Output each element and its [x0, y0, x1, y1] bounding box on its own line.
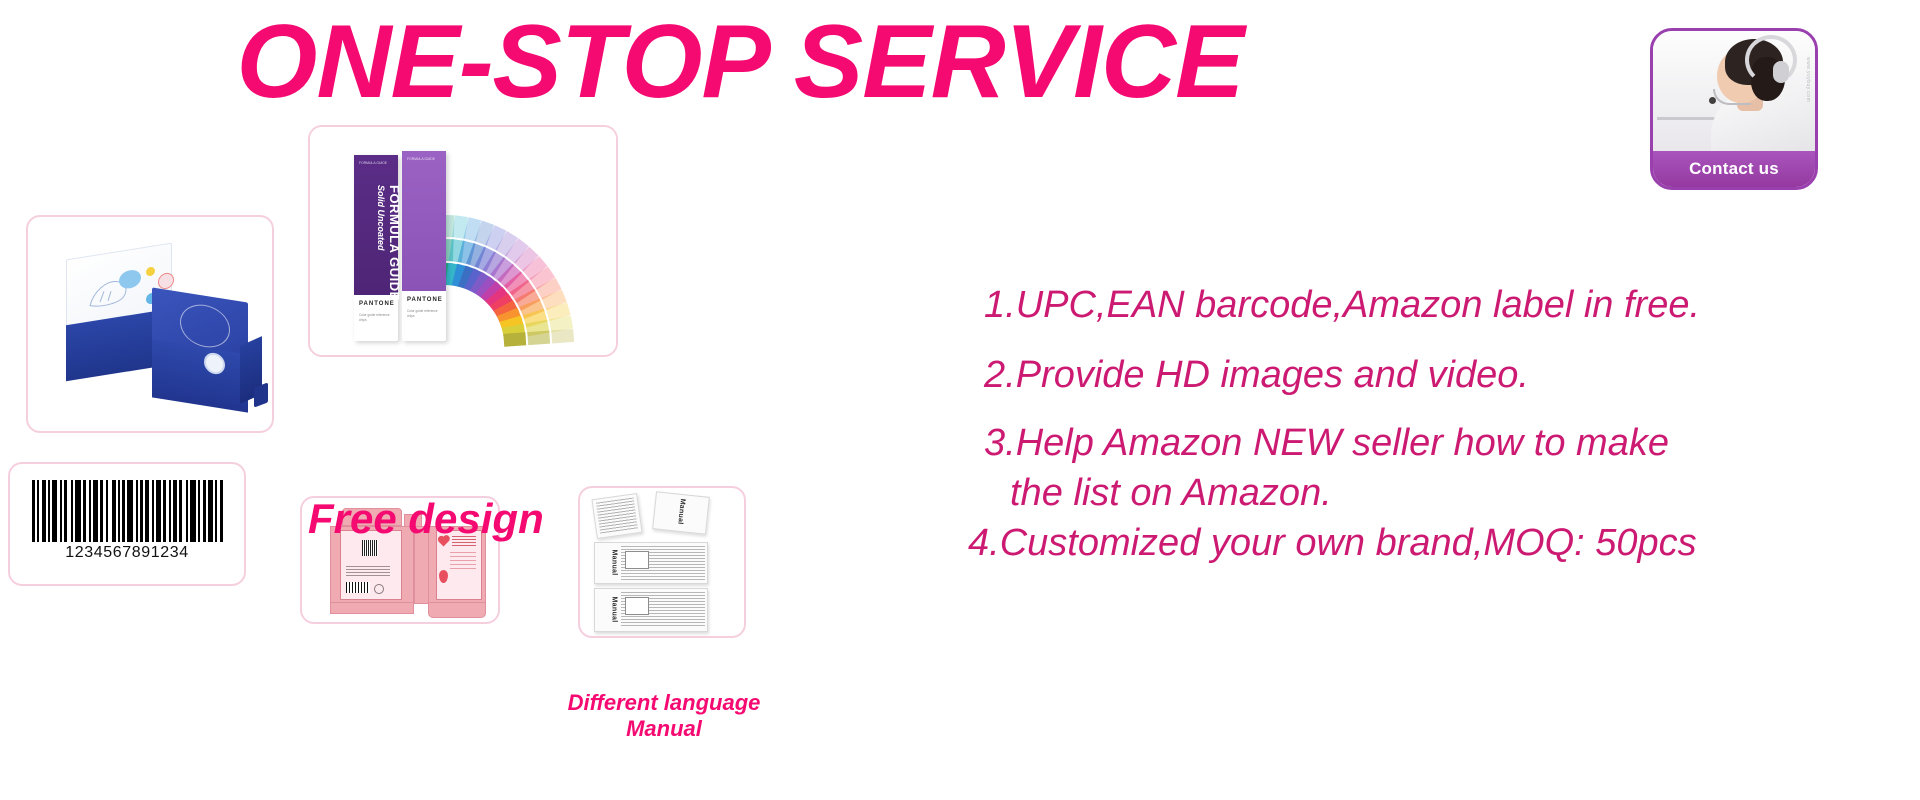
manual-text-lines	[596, 498, 638, 535]
manual-caption: Different language Manual	[566, 690, 762, 742]
guide-tiny-text: FORMULA GUIDE	[407, 157, 441, 162]
manual-caption-line1: Different language	[566, 690, 762, 716]
fan-swatches-icon	[438, 149, 618, 349]
manual-leaflet-label: Manual	[610, 597, 617, 623]
manual-leaflet-open-2: Manual	[594, 588, 708, 632]
headset-mic-icon	[1713, 89, 1751, 105]
headset-band-icon	[1745, 35, 1797, 85]
infographic-banner: ONE-STOP SERVICE www.yoybuy.com Contact …	[0, 0, 1920, 800]
manual-cover-label: Manual	[676, 498, 686, 525]
blue-box-pull-tab	[254, 382, 268, 407]
manual-page-dense	[591, 493, 642, 539]
photo-watermark: www.yoybuy.com	[1805, 57, 1811, 102]
pantone-color-fan	[438, 149, 618, 349]
pantone-logo-uncoated: PANTONE	[407, 297, 443, 303]
manual-caption-line2: Manual	[566, 716, 762, 742]
barcode-number: 1234567891234	[10, 544, 244, 562]
guide-title-uncoated: FORMULA GUIDE Solid Uncoated	[358, 181, 402, 321]
manual-card: Manual Manual Manual	[578, 486, 746, 638]
pantone-guide-uncoated: FORMULA GUIDE FORMULA GUIDE Solid Uncoat…	[402, 151, 446, 341]
guide-title-coated: FORMULA GUIDE Solid Coated	[310, 185, 354, 325]
guide-blurb: Color guide reference chips	[407, 309, 441, 320]
headset-mic-tip-icon	[1709, 97, 1716, 104]
contact-us-badge[interactable]: www.yoybuy.com Contact us	[1650, 28, 1818, 190]
manual-cover-booklet: Manual	[652, 491, 710, 534]
dieline-bottom-flap	[428, 602, 486, 618]
contact-us-bar[interactable]: Contact us	[1653, 151, 1815, 187]
manual-leaflet-label: Manual	[610, 550, 617, 576]
guide-tiny-text: FORMULA GUIDE	[359, 161, 393, 166]
service-point-3: 3.Help Amazon NEW seller how to make	[984, 424, 1920, 462]
service-point-3-continued: the list on Amazon.	[1010, 474, 1920, 512]
free-design-caption: Free design	[308, 495, 538, 543]
page-title: ONE-STOP SERVICE	[0, 8, 1480, 117]
barcode-card: 1234567891234	[8, 462, 246, 586]
barcode-bars-icon	[32, 480, 228, 542]
guide-band: FORMULA GUIDE FORMULA GUIDE Solid Uncoat…	[402, 151, 446, 291]
dieline-barcode-icon	[346, 582, 370, 593]
support-agent-photo: www.yoybuy.com	[1653, 31, 1815, 151]
manual-diagram-icon	[625, 551, 649, 569]
service-point-1: 1.UPC,EAN barcode,Amazon label in free.	[984, 286, 1920, 324]
dieline-text-block	[346, 566, 390, 578]
manual-diagram-icon	[625, 597, 649, 615]
gift-box-photo	[28, 217, 272, 431]
gift-box-card	[26, 215, 274, 433]
contact-us-label: Contact us	[1689, 159, 1779, 179]
manual-leaflet-open-1: Manual	[594, 542, 708, 584]
service-points-list: 1.UPC,EAN barcode,Amazon label in free. …	[940, 286, 1920, 562]
pantone-photo: FORMULA GUIDE FORMULA GUIDE Solid Coated…	[310, 127, 616, 355]
pantone-card: FORMULA GUIDE FORMULA GUIDE Solid Coated…	[308, 125, 618, 357]
dieline-body-text	[450, 552, 476, 572]
dieline-bottom-tab	[330, 602, 414, 614]
service-point-2: 2.Provide HD images and video.	[984, 356, 1920, 394]
service-point-4: 4.Customized your own brand,MOQ: 50pcs	[968, 524, 1920, 562]
headset-earcup-icon	[1773, 61, 1789, 83]
recycle-mark-icon	[374, 584, 384, 594]
